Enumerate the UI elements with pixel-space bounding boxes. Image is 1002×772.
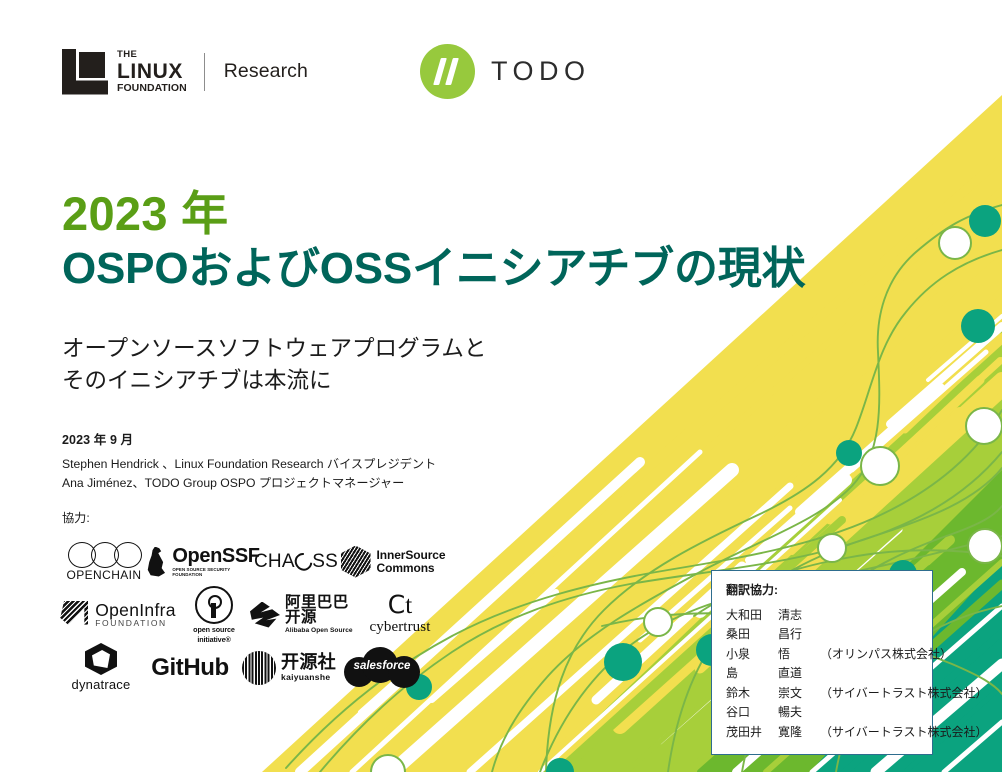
- chaoss-label-post: SS: [312, 551, 338, 573]
- translator-family-name: 大和田: [726, 606, 778, 625]
- translator-family-name: 鈴木: [726, 684, 778, 703]
- alibaba-open-source-logo: 阿里巴巴开源 Alibaba Open Source: [250, 595, 354, 635]
- alibaba-mark-icon: [250, 602, 280, 628]
- translator-given-name: 昌行: [778, 625, 820, 644]
- translator-family-name: 島: [726, 664, 778, 683]
- todo-group-logo: TODO: [420, 44, 591, 99]
- translator-family-name: 谷口: [726, 703, 778, 722]
- translator-organization: （サイバートラスト株式会社）: [820, 723, 988, 742]
- osi-label-2: initiative®: [197, 635, 230, 644]
- lf-foundation-text: FOUNDATION: [117, 83, 187, 94]
- openinfra-sublabel: FOUNDATION: [95, 619, 176, 628]
- dynatrace-logo: dynatrace: [58, 643, 144, 692]
- author-list: Stephen Hendrick 、Linux Foundation Resea…: [62, 455, 436, 492]
- partner-logo-row-2: OpenInfra FOUNDATION open source initiat…: [58, 588, 458, 641]
- translation-credits-box: 翻訳協力: 大和田清志桑田昌行小泉悟（オリンパス株式会社）島直道鈴木崇文（サイバ…: [711, 570, 933, 755]
- translator-row: 茂田井寛隆（サイバートラスト株式会社）: [726, 723, 920, 742]
- openchain-label: OPENCHAIN: [67, 568, 142, 582]
- cybertrust-label: cybertrust: [370, 619, 431, 636]
- innersource-label-2: Commons: [377, 562, 446, 575]
- cooperation-label: 協力:: [62, 508, 90, 526]
- translator-row: 大和田清志: [726, 606, 920, 625]
- page-subtitle: オープンソースソフトウェアプログラムと そのイニシアチブは本流に: [62, 333, 486, 397]
- translator-row: 小泉悟（オリンパス株式会社）: [726, 645, 920, 664]
- translator-row: 桑田昌行: [726, 625, 920, 644]
- cybertrust-mark-icon: Ⅽt: [388, 593, 412, 618]
- author-2: Ana Jiménez、TODO Group OSPO プロジェクトマネージャー: [62, 474, 436, 493]
- openinfra-label: OpenInfra: [95, 601, 176, 619]
- alibaba-label-cn: 阿里巴巴开源: [285, 595, 354, 626]
- subtitle-line-1: オープンソースソフトウェアプログラムと: [62, 333, 486, 365]
- translator-family-name: 桑田: [726, 625, 778, 644]
- dynatrace-label: dynatrace: [72, 677, 131, 692]
- kaiyuanshe-label-cn: 开源社: [281, 653, 336, 671]
- page-title: 2023 年 OSPOおよびOSSイニシアチブの現状: [62, 186, 805, 295]
- osi-keyhole-icon: [195, 586, 233, 624]
- translator-row: 島直道: [726, 664, 920, 683]
- todo-wordmark: TODO: [491, 56, 591, 87]
- innersource-hex-icon: [341, 546, 371, 578]
- salesforce-label: salesforce: [342, 660, 422, 672]
- kaiyuanshe-label-en: kaiyuanshe: [281, 673, 336, 682]
- innersource-label-1: InnerSource: [377, 549, 446, 562]
- report-cover-page: THE LINUX FOUNDATION Research TODO 2023 …: [0, 0, 1002, 772]
- partner-logos: OPENCHAIN OpenSSF OPEN SOURCE SECURITY F…: [58, 535, 458, 694]
- header-logos: THE LINUX FOUNDATION Research TODO: [62, 44, 591, 99]
- title-year-line: 2023 年: [62, 186, 805, 241]
- openssf-sublabel: OPEN SOURCE SECURITY FOUNDATION: [172, 568, 259, 577]
- dynatrace-cube-icon: [85, 643, 117, 675]
- openchain-logo: OPENCHAIN: [58, 542, 150, 582]
- translator-given-name: 直道: [778, 664, 820, 683]
- translator-given-name: 清志: [778, 606, 820, 625]
- translator-given-name: 暢夫: [778, 703, 820, 722]
- todo-slash-icon: [420, 44, 475, 99]
- github-logo: GitHub: [144, 654, 236, 682]
- partner-logo-row-1: OPENCHAIN OpenSSF OPEN SOURCE SECURITY F…: [58, 535, 458, 588]
- translation-credits-title: 翻訳協力:: [726, 581, 920, 598]
- partner-logo-row-3: dynatrace GitHub 开源社 kaiyuanshe salesfor…: [58, 641, 458, 694]
- lf-linux-text: LINUX: [117, 61, 187, 82]
- translator-organization: （オリンパス株式会社）: [820, 645, 952, 664]
- kaiyuanshe-circle-icon: [242, 651, 276, 685]
- author-1: Stephen Hendrick 、Linux Foundation Resea…: [62, 455, 436, 474]
- openssf-label: OpenSSF: [172, 546, 259, 566]
- translator-given-name: 崇文: [778, 684, 820, 703]
- osi-label-1: open source: [193, 625, 235, 634]
- logo-divider: [204, 53, 205, 91]
- translator-organization: （サイバートラスト株式会社）: [820, 684, 988, 703]
- translator-family-name: 茂田井: [726, 723, 778, 742]
- title-main-line: OSPOおよびOSSイニシアチブの現状: [62, 243, 805, 295]
- openchain-rings-icon: [68, 542, 140, 566]
- alibaba-label-en: Alibaba Open Source: [285, 628, 354, 635]
- publication-date: 2023 年 9 月: [62, 429, 133, 448]
- salesforce-logo: salesforce: [342, 647, 422, 689]
- linux-foundation-wordmark: THE LINUX FOUNDATION: [117, 50, 187, 93]
- linux-foundation-research-logo: THE LINUX FOUNDATION Research: [62, 49, 308, 95]
- subtitle-line-2: そのイニシアチブは本流に: [62, 365, 486, 397]
- openssf-logo: OpenSSF OPEN SOURCE SECURITY FOUNDATION: [150, 546, 254, 577]
- translator-row: 谷口暢夫: [726, 703, 920, 722]
- innersource-commons-logo: InnerSource Commons: [338, 546, 448, 578]
- openinfra-arrow-icon: [60, 601, 88, 629]
- chaoss-label-pre: CHA: [254, 551, 295, 573]
- chaoss-logo: CHASS: [254, 551, 338, 573]
- translation-credits-list: 大和田清志桑田昌行小泉悟（オリンパス株式会社）島直道鈴木崇文（サイバートラスト株…: [726, 606, 920, 742]
- translator-given-name: 悟: [778, 645, 820, 664]
- github-label: GitHub: [151, 654, 229, 682]
- translator-given-name: 寛隆: [778, 723, 820, 742]
- lf-the-text: THE: [117, 50, 187, 60]
- open-source-initiative-logo: open source initiative®: [178, 586, 250, 644]
- translator-row: 鈴木崇文（サイバートラスト株式会社）: [726, 684, 920, 703]
- kaiyuanshe-logo: 开源社 kaiyuanshe: [236, 651, 342, 685]
- linux-foundation-mark-icon: [62, 49, 108, 95]
- cybertrust-logo: Ⅽt cybertrust: [354, 593, 446, 636]
- translator-family-name: 小泉: [726, 645, 778, 664]
- openinfra-foundation-logo: OpenInfra FOUNDATION: [58, 601, 178, 629]
- lf-research-text: Research: [224, 60, 308, 83]
